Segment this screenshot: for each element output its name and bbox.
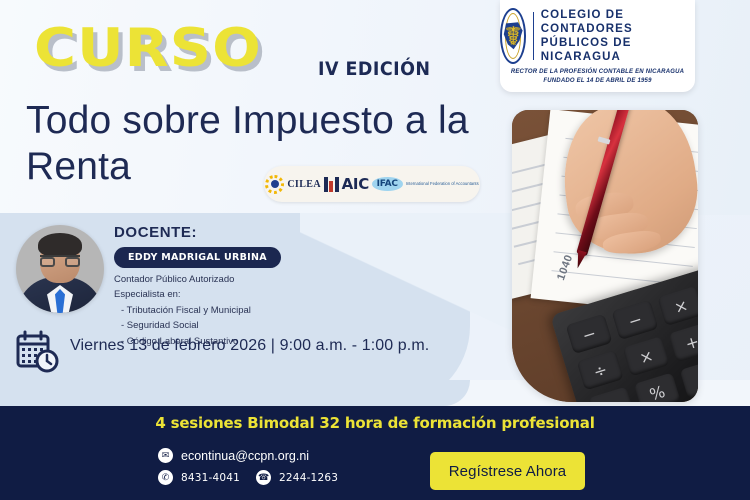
background-panel-mask bbox=[0, 380, 470, 406]
logo-row: ☤ COLEGIO DE CONTADORES PÚBLICOS DE NICA… bbox=[500, 8, 695, 64]
speaker-name-badge: EDDY MADRIGAL URBINA bbox=[114, 247, 281, 268]
contact-landline: 2244-1263 bbox=[279, 472, 338, 484]
ifac-badge-icon: IFAC bbox=[372, 177, 403, 191]
register-button[interactable]: Regístrese Ahora bbox=[430, 452, 585, 490]
speaker-specialty-heading: Especialista en: bbox=[114, 287, 251, 302]
contact-email-row[interactable]: ✉ econtinua@ccpn.org.ni bbox=[158, 448, 338, 463]
speaker-avatar bbox=[16, 225, 104, 313]
contact-info: ✉ econtinua@ccpn.org.ni ✆ 8431-4041 ☎ 22… bbox=[158, 448, 338, 485]
contact-landline-group[interactable]: ☎ 2244-1263 bbox=[256, 470, 338, 485]
contact-mobile: 8431-4041 bbox=[181, 472, 240, 484]
course-promo-poster: CURSO IV EDICIÓN Todo sobre Impuesto a l… bbox=[0, 0, 750, 500]
contact-mobile-group[interactable]: ✆ 8431-4041 bbox=[158, 470, 240, 485]
ifac-sublabel: International Federation of Accountants bbox=[406, 181, 479, 187]
envelope-icon: ✉ bbox=[158, 448, 173, 463]
speaker-credential: Contador Público Autorizado bbox=[114, 272, 251, 287]
contact-email: econtinua@ccpn.org.ni bbox=[181, 449, 309, 463]
schedule-datetime: Viernes 13 de febrero 2026 | 9:00 a.m. -… bbox=[70, 337, 429, 355]
footer-tagline: 4 sesiones Bimodal 32 hora de formación … bbox=[0, 414, 750, 432]
calc-key: % bbox=[634, 372, 681, 402]
organization-tagline: RECTOR DE LA PROFESIÓN CONTABLE EN NICAR… bbox=[511, 68, 684, 86]
calc-key: ÷ bbox=[577, 350, 624, 390]
speaker-specialty-item: - Tributación Fiscal y Municipal bbox=[114, 303, 251, 318]
contact-phone-row: ✆ 8431-4041 ☎ 2244-1263 bbox=[158, 470, 338, 485]
avatar-hair bbox=[38, 233, 82, 257]
aic-bars-icon bbox=[324, 177, 339, 192]
calc-key: × bbox=[657, 286, 698, 326]
caduceus-icon: ☤ bbox=[504, 23, 521, 49]
curso-kicker: CURSO bbox=[34, 22, 262, 75]
organization-tagline-line1: RECTOR DE LA PROFESIÓN CONTABLE EN NICAR… bbox=[511, 68, 684, 77]
calc-key: × bbox=[623, 336, 670, 376]
aic-logo: AIC bbox=[324, 175, 369, 193]
cilea-label: CILEA bbox=[287, 179, 321, 190]
cilea-ring-icon bbox=[265, 175, 284, 194]
accreditation-logos: CILEA AIC IFAC International Federation … bbox=[264, 166, 480, 202]
organization-name: COLEGIO DE CONTADORES PÚBLICOS DE NICARA… bbox=[541, 8, 695, 64]
ccpn-seal-icon: ☤ bbox=[500, 8, 526, 64]
cilea-logo: CILEA bbox=[265, 175, 321, 194]
calc-key: ÷ bbox=[588, 386, 635, 402]
speaker-specialty-item: - Seguridad Social bbox=[114, 318, 251, 333]
calc-key: − bbox=[611, 300, 658, 340]
aic-label: AIC bbox=[342, 175, 369, 193]
edition-label: IV EDICIÓN bbox=[318, 58, 430, 80]
ifac-logo: IFAC International Federation of Account… bbox=[372, 177, 479, 191]
phone-icon: ✆ bbox=[158, 470, 173, 485]
calendar-clock-icon bbox=[14, 330, 60, 374]
footer-bar: 4 sesiones Bimodal 32 hora de formación … bbox=[0, 406, 750, 500]
organization-tagline-line2: FUNDADO EL 14 DE ABRIL DE 1959 bbox=[511, 77, 684, 86]
avatar-glasses-icon bbox=[40, 255, 80, 267]
hero-photo-tax-form: 1040 − − × ÷ × + ÷ % = bbox=[512, 110, 698, 402]
calc-key: − bbox=[566, 314, 613, 354]
organization-logo-card: ☤ COLEGIO DE CONTADORES PÚBLICOS DE NICA… bbox=[500, 0, 695, 92]
speaker-label: DOCENTE: bbox=[114, 224, 197, 241]
calc-key: + bbox=[668, 322, 698, 362]
calc-key: = bbox=[680, 358, 698, 398]
telephone-icon: ☎ bbox=[256, 470, 271, 485]
